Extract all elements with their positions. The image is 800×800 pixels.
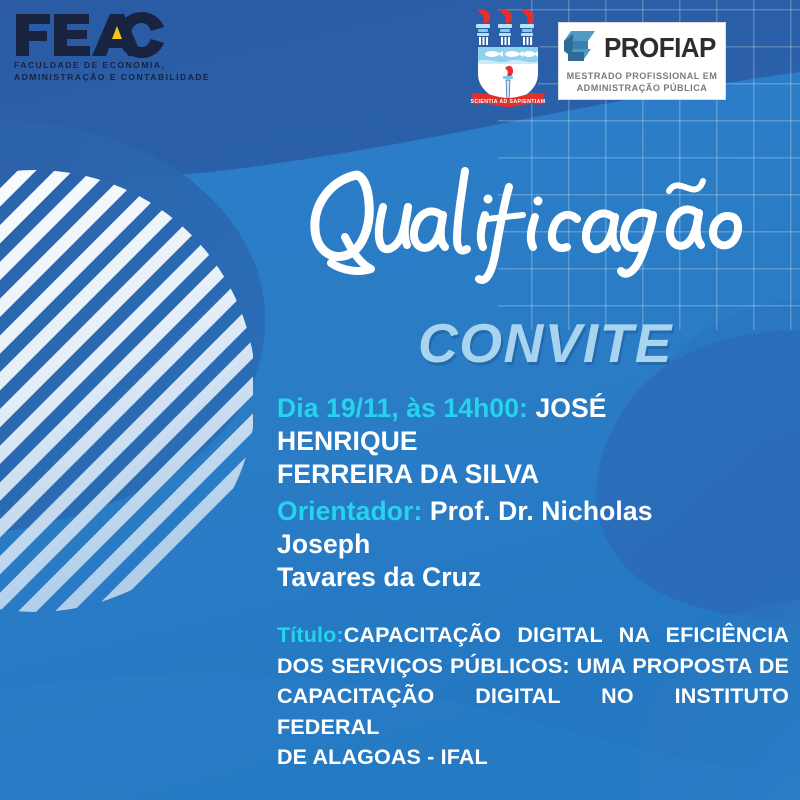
profiap-mark-icon: [559, 28, 601, 68]
event-date-and-student: Dia 19/11, às 14h00: JOSÉ HENRIQUE FERRE…: [277, 392, 747, 491]
thesis-title-line3: CAPACITAÇÃO DIGITAL NO INSTITUTO FEDERAL: [277, 681, 789, 742]
date-label: Dia 19/11, às 14h00:: [277, 393, 528, 423]
thesis-title-line2: DOS SERVIÇOS PÚBLICOS: UMA PROPOSTA DE: [277, 651, 789, 682]
advisor-label: Orientador:: [277, 496, 422, 526]
thesis-title-block: Título: CAPACITAÇÃO DIGITAL NA EFICIÊNCI…: [277, 620, 789, 773]
thesis-title-line1: Título: CAPACITAÇÃO DIGITAL NA EFICIÊNCI…: [277, 620, 789, 651]
profiap-subtitle: MESTRADO PROFISSIONAL EM ADMINISTRAÇÃO P…: [567, 71, 718, 94]
feac-wordmark-icon: [14, 12, 166, 58]
script-headline: [295, 163, 775, 288]
feac-subtitle-line1: FACULDADE DE ECONOMIA,: [14, 60, 174, 72]
profiap-subtitle-line1: MESTRADO PROFISSIONAL EM: [567, 71, 718, 83]
profiap-subtitle-line2: ADMINISTRAÇÃO PÚBLICA: [567, 83, 718, 95]
ufal-coat-of-arms-icon: SCIENTIA AD SAPIENTIAM: [467, 6, 549, 110]
feac-subtitle: FACULDADE DE ECONOMIA, ADMINISTRAÇÃO E C…: [14, 60, 174, 83]
thesis-title-line1-text: CAPACITAÇÃO DIGITAL NA EFICIÊNCIA: [344, 620, 789, 651]
svg-text:SCIENTIA AD SAPIENTIAM: SCIENTIA AD SAPIENTIAM: [471, 99, 546, 105]
profiap-logo: PROFIAP MESTRADO PROFISSIONAL EM ADMINIS…: [558, 22, 726, 100]
student-name-line2: FERREIRA DA SILVA: [277, 459, 539, 489]
profiap-wordmark: PROFIAP: [604, 34, 716, 62]
convite-subtitle: CONVITE: [418, 316, 673, 371]
feac-logo: FACULDADE DE ECONOMIA, ADMINISTRAÇÃO E C…: [14, 12, 174, 83]
advisor-block: Orientador: Prof. Dr. Nicholas Joseph Ta…: [277, 495, 747, 594]
thesis-title-line4: DE ALAGOAS - IFAL: [277, 742, 789, 773]
feac-subtitle-line2: ADMINISTRAÇÃO E CONTABILIDADE: [14, 72, 174, 84]
title-label: Título:: [277, 623, 344, 647]
advisor-name-line2: Tavares da Cruz: [277, 562, 481, 592]
poster-canvas: FACULDADE DE ECONOMIA, ADMINISTRAÇÃO E C…: [0, 0, 800, 800]
